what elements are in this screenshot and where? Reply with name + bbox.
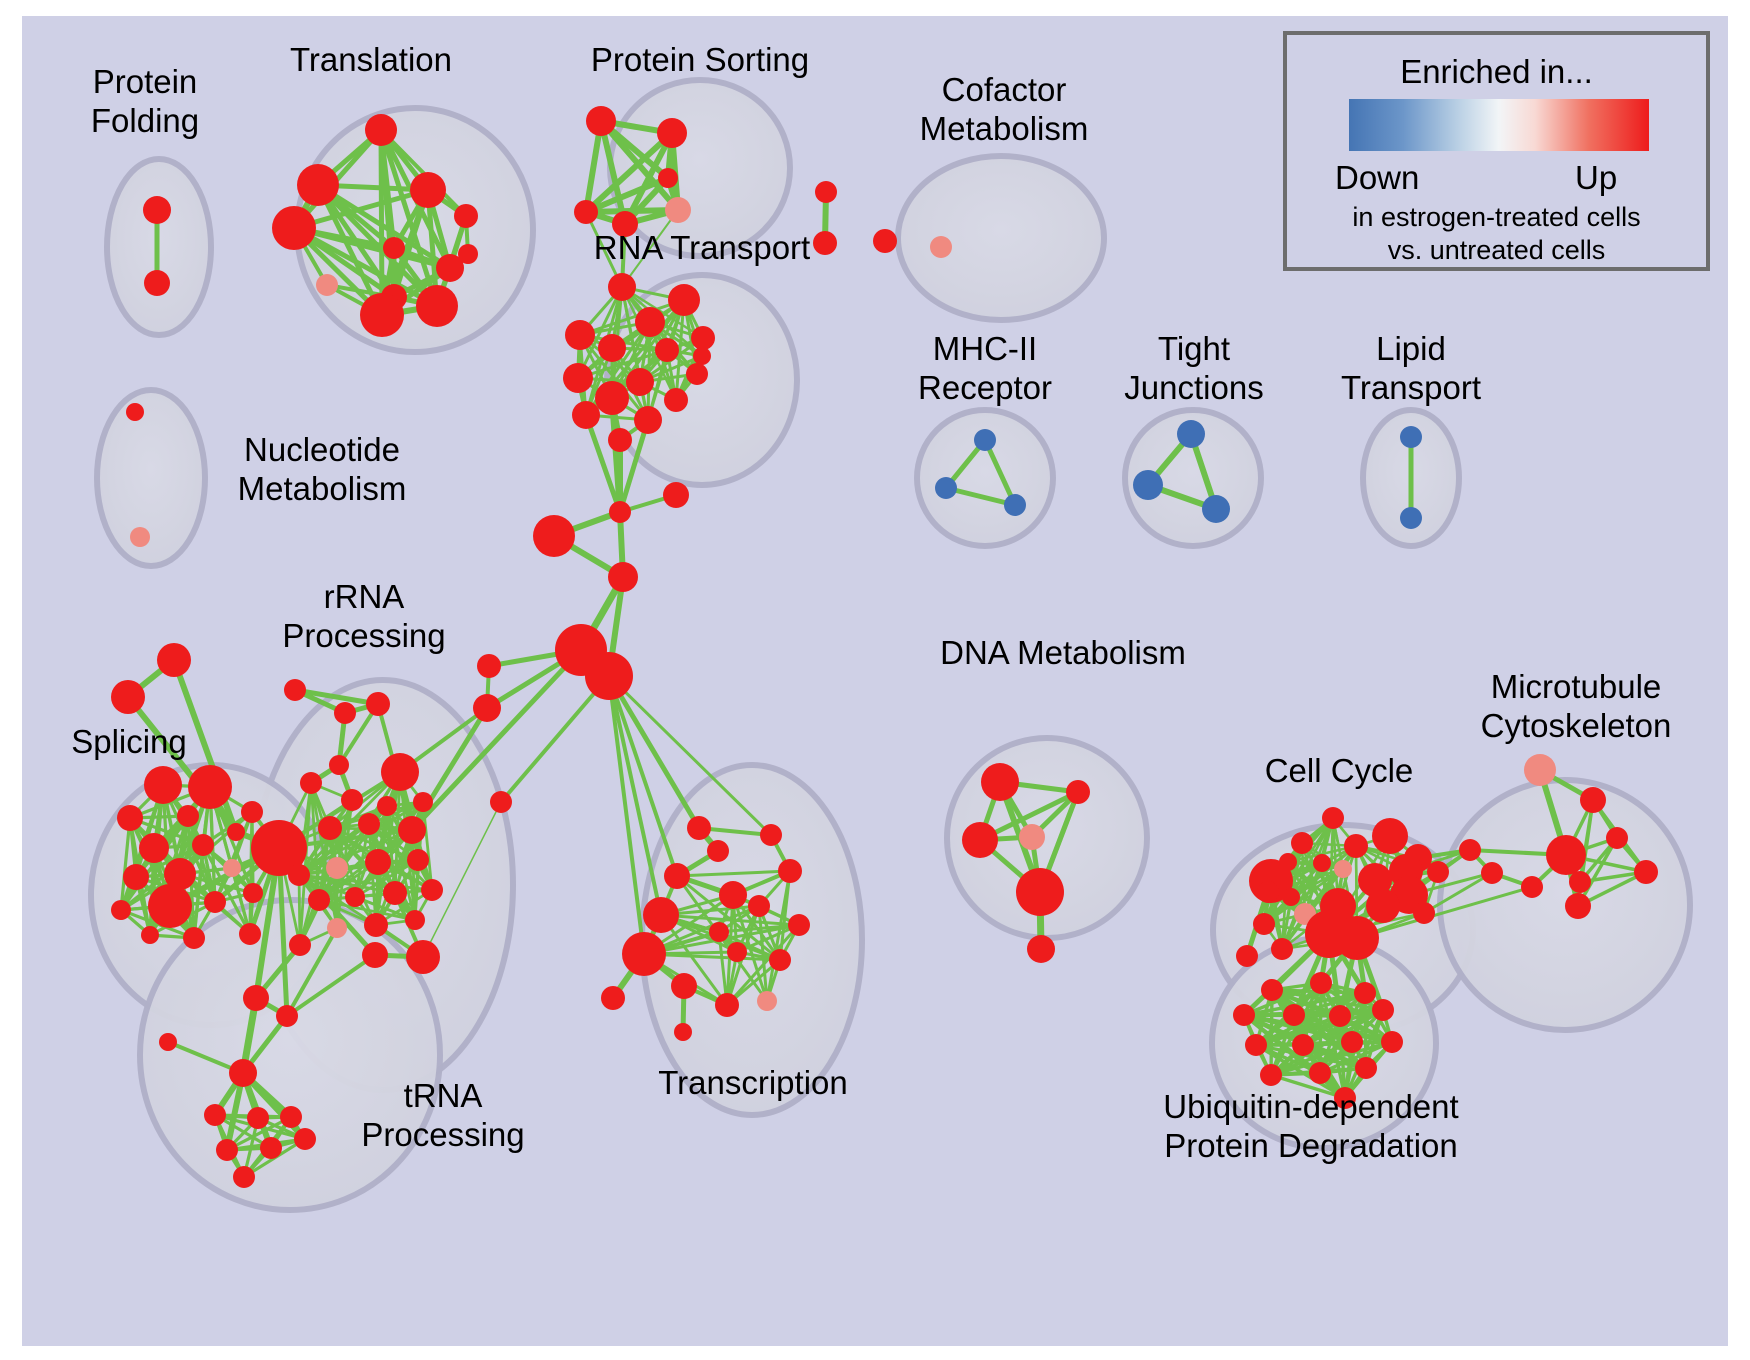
network-node[interactable]	[143, 196, 171, 224]
network-node[interactable]	[635, 307, 665, 337]
network-node[interactable]	[126, 403, 144, 421]
network-node[interactable]	[111, 900, 131, 920]
network-node[interactable]	[1341, 1031, 1363, 1053]
network-node[interactable]	[407, 849, 429, 871]
network-node[interactable]	[157, 643, 191, 677]
network-node[interactable]	[204, 891, 226, 913]
network-node[interactable]	[1260, 1064, 1282, 1086]
network-node[interactable]	[760, 824, 782, 846]
network-node[interactable]	[930, 236, 952, 258]
network-node[interactable]	[574, 200, 598, 224]
network-node[interactable]	[643, 897, 679, 933]
network-node[interactable]	[1019, 824, 1045, 850]
network-node[interactable]	[123, 864, 149, 890]
network-node[interactable]	[398, 816, 426, 844]
network-node[interactable]	[815, 181, 837, 203]
cluster-ellipse	[898, 156, 1104, 320]
network-node[interactable]	[216, 1139, 238, 1161]
network-node[interactable]	[326, 857, 348, 879]
network-node[interactable]	[405, 910, 425, 930]
network-node[interactable]	[297, 164, 339, 206]
legend-up-label: Up	[1575, 159, 1617, 197]
network-node[interactable]	[608, 273, 636, 301]
network-node[interactable]	[1344, 834, 1368, 858]
network-node[interactable]	[334, 702, 356, 724]
network-node[interactable]	[693, 347, 711, 365]
network-node[interactable]	[1400, 426, 1422, 448]
network-node[interactable]	[1334, 1087, 1356, 1109]
network-node[interactable]	[239, 923, 261, 945]
network-node[interactable]	[609, 501, 631, 523]
network-node[interactable]	[634, 406, 662, 434]
network-node[interactable]	[454, 204, 478, 228]
network-node[interactable]	[477, 654, 501, 678]
network-node[interactable]	[622, 932, 666, 976]
network-node[interactable]	[130, 527, 150, 547]
network-node[interactable]	[1381, 1031, 1403, 1053]
network-node[interactable]	[663, 482, 689, 508]
network-node[interactable]	[1133, 470, 1163, 500]
network-node[interactable]	[687, 816, 711, 840]
network-node[interactable]	[294, 1128, 316, 1150]
network-node[interactable]	[280, 1106, 302, 1128]
network-node[interactable]	[1253, 913, 1275, 935]
network-node[interactable]	[159, 1033, 177, 1051]
network-node[interactable]	[1366, 889, 1400, 923]
network-node[interactable]	[243, 883, 263, 903]
network-node[interactable]	[327, 918, 347, 938]
network-node[interactable]	[565, 320, 595, 350]
network-node[interactable]	[1066, 780, 1090, 804]
network-node[interactable]	[1027, 935, 1055, 963]
network-node[interactable]	[1257, 881, 1279, 903]
network-node[interactable]	[243, 985, 269, 1011]
network-node[interactable]	[935, 477, 957, 499]
network-node[interactable]	[227, 823, 245, 841]
network-node[interactable]	[873, 229, 897, 253]
network-node[interactable]	[383, 881, 407, 905]
network-node[interactable]	[1310, 972, 1332, 994]
network-node[interactable]	[410, 172, 446, 208]
network-node[interactable]	[144, 766, 182, 804]
network-node[interactable]	[1016, 868, 1064, 916]
network-node[interactable]	[757, 991, 777, 1011]
network-node[interactable]	[686, 363, 708, 385]
network-node[interactable]	[668, 284, 700, 316]
network-node[interactable]	[778, 859, 802, 883]
network-node[interactable]	[1309, 1062, 1331, 1084]
network-node[interactable]	[658, 168, 678, 188]
network-node[interactable]	[141, 926, 159, 944]
network-node[interactable]	[1177, 420, 1205, 448]
network-node[interactable]	[727, 942, 747, 962]
network-node[interactable]	[188, 765, 232, 809]
network-node[interactable]	[707, 840, 729, 862]
network-node[interactable]	[1355, 1057, 1377, 1079]
network-node[interactable]	[308, 889, 330, 911]
network-node[interactable]	[341, 789, 363, 811]
network-node[interactable]	[1459, 839, 1481, 861]
network-node[interactable]	[1524, 754, 1556, 786]
network-node[interactable]	[1546, 835, 1586, 875]
network-node[interactable]	[192, 834, 214, 856]
network-node[interactable]	[148, 884, 192, 928]
network-node[interactable]	[769, 949, 791, 971]
cluster-ellipse	[1440, 780, 1690, 1030]
legend-caption: in estrogen-treated cells vs. untreated …	[1287, 201, 1706, 267]
network-node[interactable]	[229, 1059, 257, 1087]
network-node[interactable]	[1580, 787, 1606, 813]
network-node[interactable]	[598, 334, 626, 362]
network-node[interactable]	[364, 913, 388, 937]
network-node[interactable]	[360, 293, 404, 337]
legend-caption-line2: vs. untreated cells	[1388, 235, 1606, 265]
network-node[interactable]	[665, 197, 691, 223]
network-node[interactable]	[1521, 876, 1543, 898]
network-node[interactable]	[144, 270, 170, 296]
network-node[interactable]	[421, 879, 443, 901]
network-node[interactable]	[1569, 871, 1591, 893]
network-node[interactable]	[223, 859, 241, 877]
network-node[interactable]	[1202, 495, 1230, 523]
network-node[interactable]	[473, 694, 501, 722]
network-node[interactable]	[1261, 979, 1283, 1001]
network-node[interactable]	[416, 285, 458, 327]
network-node[interactable]	[1279, 853, 1297, 871]
network-node[interactable]	[626, 368, 654, 396]
network-node[interactable]	[1354, 982, 1376, 1004]
network-node[interactable]	[1282, 888, 1300, 906]
network-node[interactable]	[691, 326, 715, 350]
network-node[interactable]	[413, 792, 433, 812]
network-node[interactable]	[260, 1137, 282, 1159]
network-node[interactable]	[139, 833, 169, 863]
network-node[interactable]	[788, 914, 810, 936]
network-node[interactable]	[962, 822, 998, 858]
network-node[interactable]	[365, 849, 391, 875]
network-node[interactable]	[1233, 1004, 1255, 1026]
network-node[interactable]	[1481, 862, 1503, 884]
cluster-ellipse	[97, 390, 205, 566]
network-node[interactable]	[381, 753, 419, 791]
network-node[interactable]	[289, 934, 311, 956]
network-node[interactable]	[572, 401, 600, 429]
network-node[interactable]	[183, 927, 205, 949]
network-node[interactable]	[612, 211, 638, 237]
network-node[interactable]	[284, 679, 306, 701]
network-node[interactable]	[111, 680, 145, 714]
network-node[interactable]	[233, 1166, 255, 1188]
network-node[interactable]	[1292, 1034, 1314, 1056]
network-node[interactable]	[458, 244, 478, 264]
network-node[interactable]	[288, 864, 310, 886]
network-node[interactable]	[1335, 916, 1379, 960]
network-node[interactable]	[1400, 507, 1422, 529]
network-node[interactable]	[1565, 893, 1591, 919]
network-node[interactable]	[719, 881, 747, 909]
network-node[interactable]	[177, 805, 199, 827]
network-node[interactable]	[1427, 861, 1449, 883]
network-node[interactable]	[1004, 494, 1026, 516]
network-node[interactable]	[585, 652, 633, 700]
network-node[interactable]	[709, 922, 729, 942]
network-node[interactable]	[664, 388, 688, 412]
network-node[interactable]	[329, 755, 349, 775]
network-node[interactable]	[533, 515, 575, 557]
network-node[interactable]	[1634, 860, 1658, 884]
network-node[interactable]	[1329, 1005, 1351, 1027]
network-node[interactable]	[1413, 902, 1435, 924]
network-node[interactable]	[247, 1107, 269, 1129]
network-node[interactable]	[117, 805, 143, 831]
legend-down-label: Down	[1335, 159, 1419, 197]
network-node[interactable]	[608, 562, 638, 592]
network-node[interactable]	[365, 114, 397, 146]
legend-color-bar	[1349, 99, 1649, 151]
network-node[interactable]	[1606, 827, 1628, 849]
network-node[interactable]	[974, 429, 996, 451]
legend-title: Enriched in...	[1287, 53, 1706, 91]
network-node[interactable]	[300, 772, 322, 794]
network-node[interactable]	[608, 428, 632, 452]
network-node[interactable]	[1283, 1004, 1305, 1026]
network-node[interactable]	[563, 363, 593, 393]
network-node[interactable]	[272, 206, 316, 250]
network-node[interactable]	[1291, 832, 1313, 854]
network-node[interactable]	[241, 801, 263, 823]
network-node[interactable]	[406, 940, 440, 974]
network-node[interactable]	[358, 813, 380, 835]
network-node[interactable]	[748, 895, 770, 917]
network-node[interactable]	[362, 942, 388, 968]
network-figure: Protein FoldingTranslationProtein Sortin…	[0, 0, 1750, 1360]
network-node[interactable]	[1245, 1034, 1267, 1056]
network-node[interactable]	[657, 118, 687, 148]
network-node[interactable]	[383, 237, 405, 259]
network-node[interactable]	[366, 692, 390, 716]
network-node[interactable]	[318, 816, 342, 840]
network-node[interactable]	[715, 993, 739, 1017]
network-node[interactable]	[601, 986, 625, 1010]
network-node[interactable]	[595, 381, 629, 415]
legend-box: Enriched in... Down Up in estrogen-treat…	[1283, 31, 1710, 271]
network-node[interactable]	[1313, 854, 1331, 872]
network-node[interactable]	[981, 763, 1019, 801]
network-node[interactable]	[813, 231, 837, 255]
network-node[interactable]	[1334, 860, 1352, 878]
network-node[interactable]	[1236, 945, 1258, 967]
network-node[interactable]	[674, 1023, 692, 1041]
network-node[interactable]	[1372, 818, 1408, 854]
network-node[interactable]	[671, 973, 697, 999]
network-node[interactable]	[377, 796, 397, 816]
network-node[interactable]	[586, 106, 616, 136]
network-node[interactable]	[345, 887, 365, 907]
network-node[interactable]	[1372, 999, 1394, 1021]
network-node[interactable]	[490, 791, 512, 813]
network-node[interactable]	[1271, 938, 1293, 960]
legend-caption-line1: in estrogen-treated cells	[1352, 202, 1640, 232]
network-node[interactable]	[316, 274, 338, 296]
network-node[interactable]	[664, 863, 690, 889]
network-node[interactable]	[1322, 807, 1344, 829]
network-node[interactable]	[655, 338, 679, 362]
network-node[interactable]	[204, 1104, 226, 1126]
network-node[interactable]	[276, 1005, 298, 1027]
